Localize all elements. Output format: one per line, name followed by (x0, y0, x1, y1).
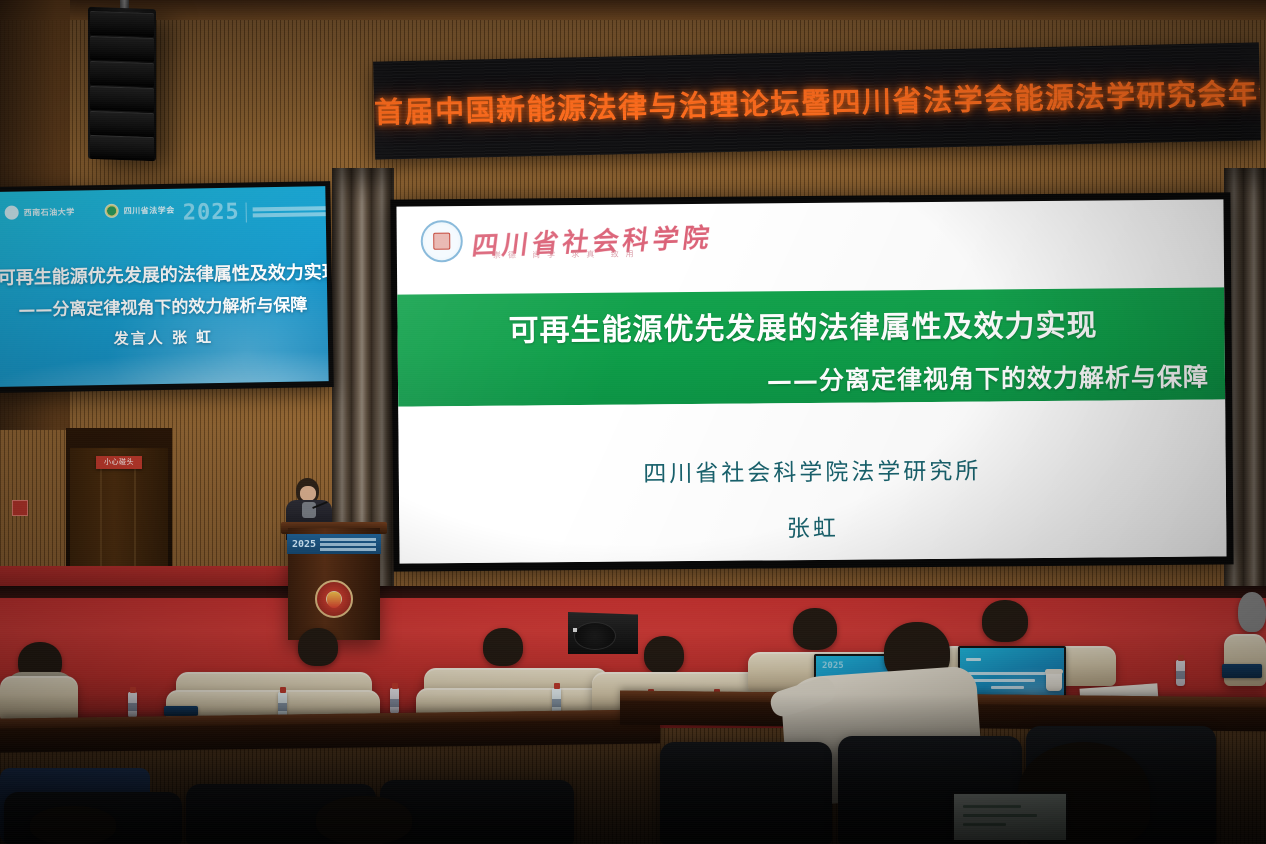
banner-title: 首届中国新能源法律与治理论坛暨四川省法学会能源法学研究会年会 (374, 70, 1261, 131)
name-plate (164, 706, 198, 716)
ceiling-strip (0, 0, 1266, 20)
monitor-subtitle: ——分离定律视角下的效力解析与保障 (0, 290, 328, 321)
audience-head (483, 628, 523, 666)
slide-title-band: 可再生能源优先发展的法律属性及效力实现 ——分离定律视角下的效力解析与保障 (397, 287, 1225, 406)
monitor-year: 2025 (182, 200, 239, 226)
audience-chair[interactable] (1224, 634, 1266, 686)
slide-header: 四川省社会科学院 崇德 尚学 求真 致用 (396, 199, 1224, 294)
name-plate (1222, 664, 1262, 678)
audience-laptop[interactable] (952, 792, 1068, 842)
presenter-face (300, 486, 316, 501)
foreground-chair[interactable] (660, 742, 832, 844)
audience-chair[interactable] (0, 676, 78, 722)
audience-head (644, 636, 684, 674)
monitor-year-block: 2025 (182, 198, 328, 226)
conference-hall-photo: 首届中国新能源法律与治理论坛暨四川省法学会能源法学研究会年会 四川省社会科学院 … (0, 0, 1266, 844)
podium-year: 2025 (292, 539, 316, 550)
monitor-logo-row: 西南石油大学 四川省法学会 (5, 203, 175, 220)
stage-monitor-speaker-icon (568, 612, 638, 654)
laptop-year: 2025 (822, 661, 844, 671)
water-bottle (128, 692, 137, 718)
audience-head (793, 608, 837, 650)
line-array-speaker-icon (88, 7, 156, 161)
water-bottle (1176, 660, 1185, 686)
slide-body: 四川省社会科学院法学研究所 张虹 (398, 399, 1226, 563)
logo-right-text: 四川省法学会 (124, 204, 175, 216)
side-monitor: 西南石油大学 四川省法学会 2025 可再生能源优先发展的法律属性及效力实现 —… (0, 181, 334, 393)
main-projection-screen: 四川省社会科学院 崇德 尚学 求真 致用 可再生能源优先发展的法律属性及效力实现… (390, 192, 1233, 571)
academy-seal-icon (421, 220, 463, 262)
paper-cup (1046, 672, 1062, 691)
event-banner: 首届中国新能源法律与治理论坛暨四川省法学会能源法学研究会年会 (373, 42, 1261, 159)
audience-head (1238, 592, 1266, 632)
logo-southwest-petroleum-university: 西南石油大学 (5, 205, 75, 220)
presenter-scarf (302, 502, 316, 518)
logo-sichuan-law-society: 四川省法学会 (105, 203, 175, 218)
monitor-background-wave (0, 323, 329, 387)
podium-emblem-icon (315, 580, 353, 618)
slide-title: 可再生能源优先发展的法律属性及效力实现 (397, 300, 1208, 351)
monitor-title: 可再生能源优先发展的法律属性及效力实现 (0, 258, 327, 290)
fire-alarm-icon[interactable] (12, 500, 28, 516)
audience-head (30, 806, 116, 844)
audience-head (298, 628, 338, 666)
academy-logo-subtext: 崇德 尚学 求真 致用 (493, 248, 641, 260)
side-monitor-screen: 西南石油大学 四川省法学会 2025 可再生能源优先发展的法律属性及效力实现 —… (0, 186, 329, 387)
water-bottle (390, 688, 399, 714)
audience-head (982, 600, 1028, 642)
logo-left-text: 西南石油大学 (24, 206, 75, 218)
slide-speaker-name: 张虹 (399, 505, 1226, 546)
slide-subtitle: ——分离定律视角下的效力解析与保障 (767, 358, 1209, 398)
monitor-event-lines (253, 206, 329, 217)
slide-affiliation: 四川省社会科学院法学研究所 (399, 449, 1226, 490)
podium-banner: 2025 (287, 534, 381, 554)
presentation-slide: 四川省社会科学院 崇德 尚学 求真 致用 可再生能源优先发展的法律属性及效力实现… (396, 199, 1226, 563)
mind-your-head-sign: 小心碰头 (96, 456, 142, 469)
podium-banner-lines (320, 538, 376, 551)
audience-head (316, 796, 412, 844)
